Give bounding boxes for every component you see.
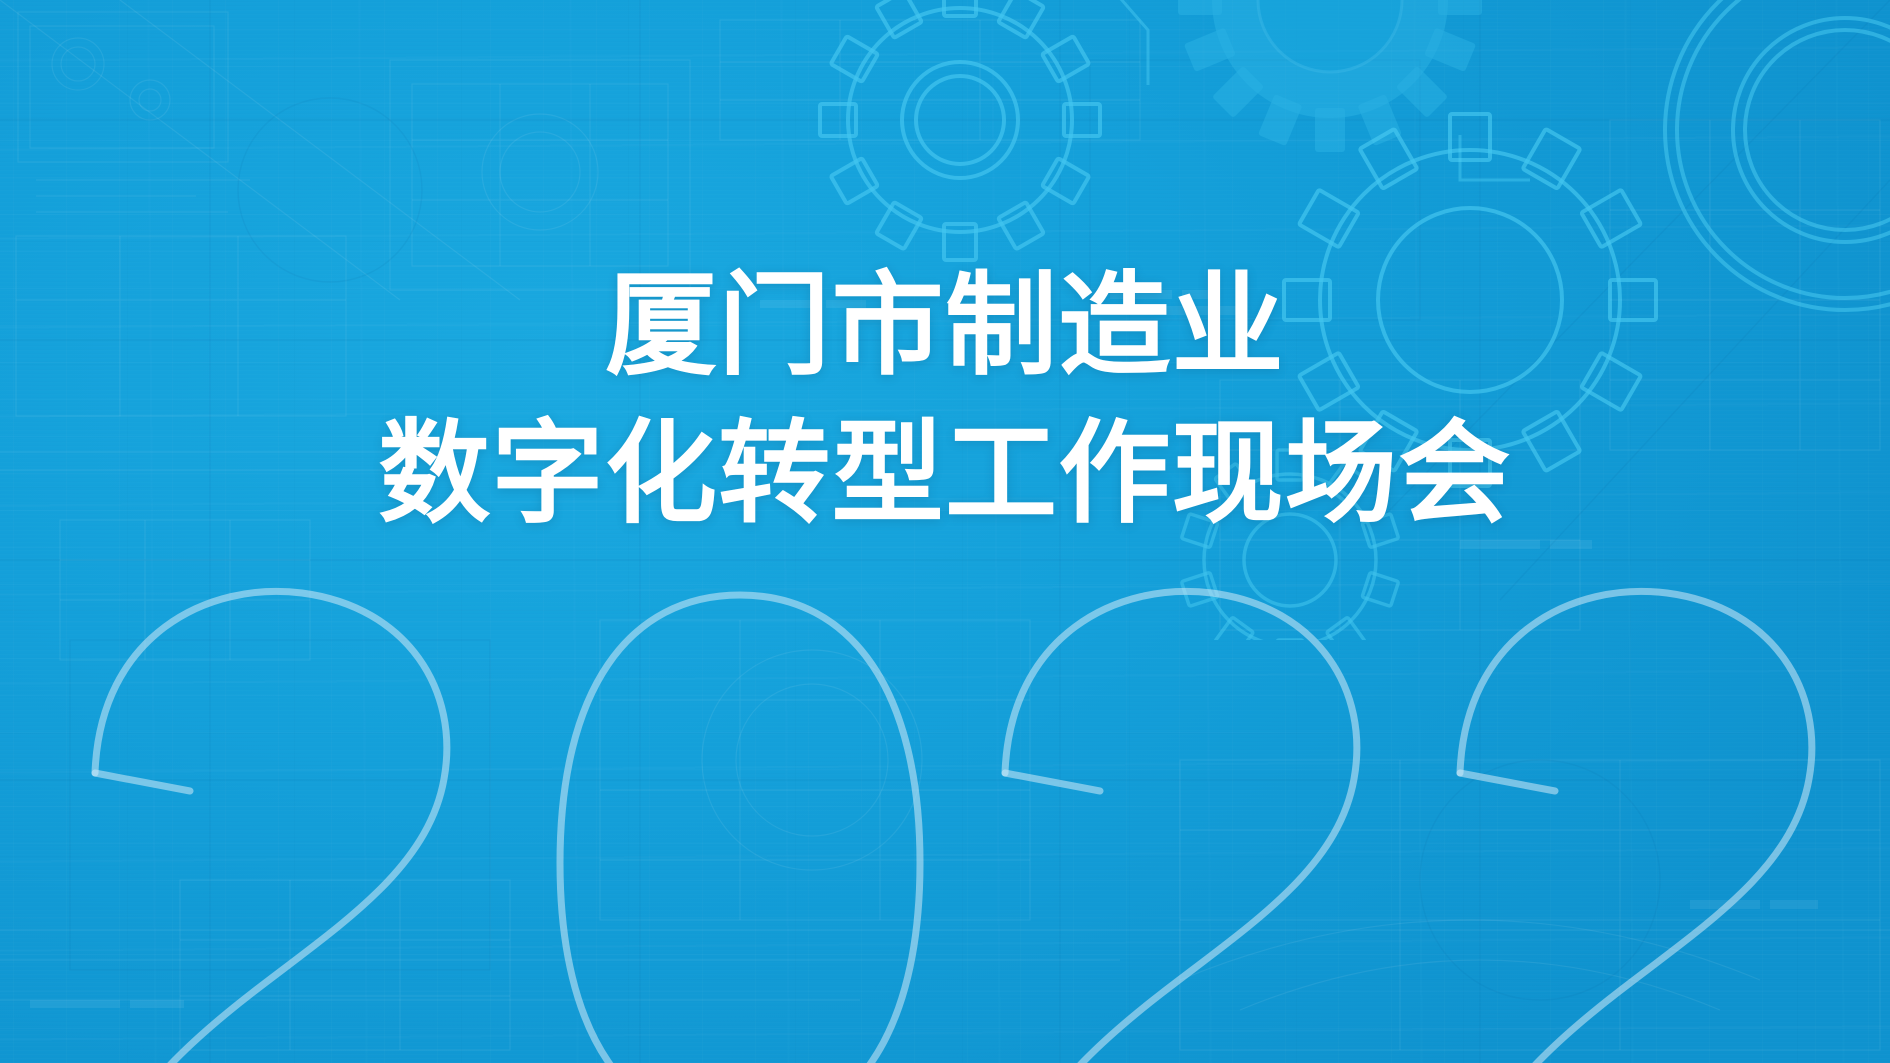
title-line-2: 数字化转型工作现场会 xyxy=(0,416,1890,532)
poster-title: 厦门市制造业 数字化转型工作现场会 xyxy=(0,268,1890,533)
poster-canvas: 厦门市制造业 数字化转型工作现场会 xyxy=(0,0,1890,1063)
title-line-1: 厦门市制造业 xyxy=(0,268,1890,384)
